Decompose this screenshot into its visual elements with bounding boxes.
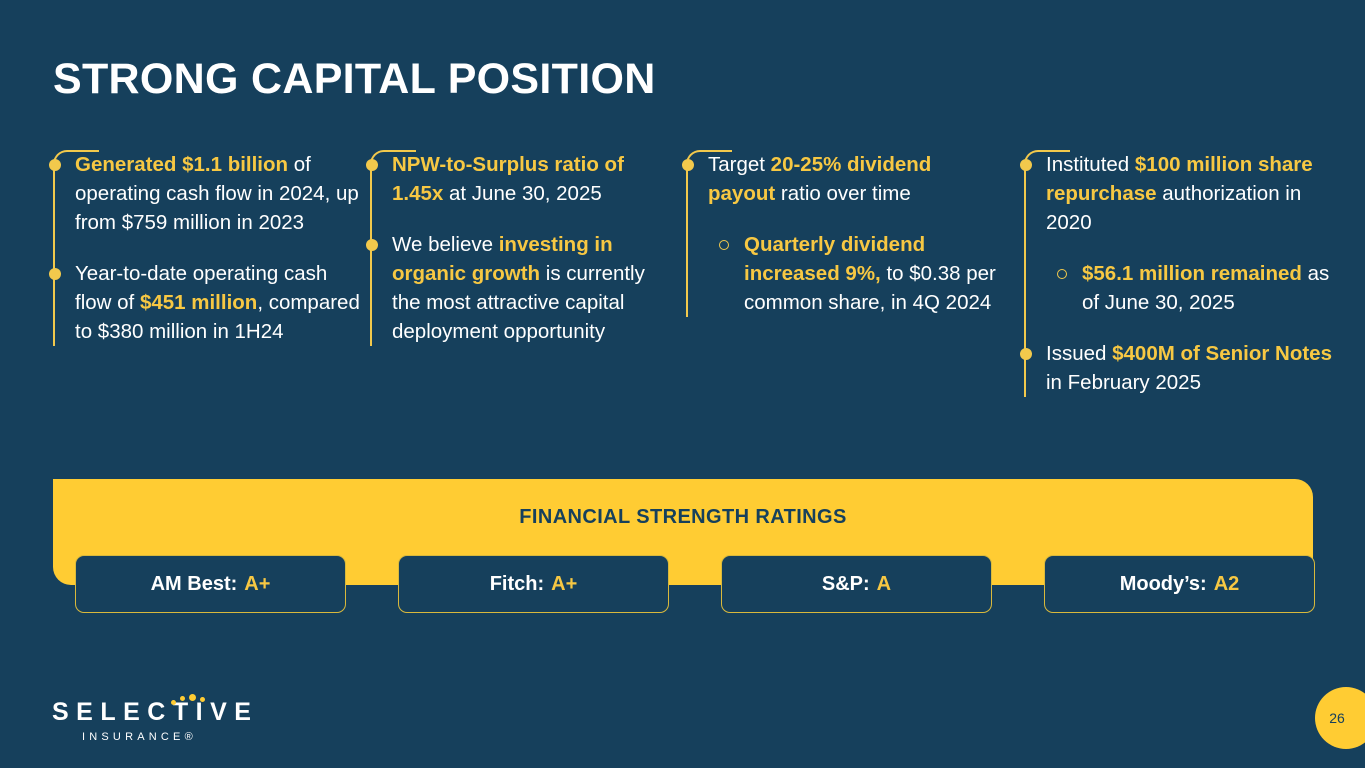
page-number-badge: 26 [1315, 687, 1365, 749]
bullet-dot-icon [49, 159, 61, 171]
rating-agency-label: Fitch: [490, 573, 544, 596]
rating-value: A+ [244, 573, 270, 596]
rating-box-4[interactable]: Moody’s:A2 [1044, 555, 1315, 613]
rating-box-3[interactable]: S&P:A [721, 555, 992, 613]
bullet-item: Instituted $100 million share repurchase… [1046, 150, 1344, 237]
logo-primary-text: SELECTIVE [52, 700, 258, 725]
rating-box-1[interactable]: AM Best:A+ [75, 555, 346, 613]
highlighted-text: Generated $1.1 billion [75, 153, 288, 176]
bullet-dot-icon [1020, 159, 1032, 171]
bullet-dot-icon [682, 159, 694, 171]
bullet-text: Generated $1.1 billion of operating cash… [75, 150, 363, 237]
bullet-item: Issued $400M of Senior Notes in February… [1046, 339, 1344, 397]
bullet-dot-icon [49, 268, 61, 280]
highlighted-text: $400M of Senior Notes [1112, 342, 1332, 365]
ratings-row: AM Best:A+Fitch:A+S&P:AMoody’s:A2 [75, 555, 1315, 613]
sub-bullet-circle-icon [719, 240, 729, 250]
bullet-text: NPW-to-Surplus ratio of 1.45x at June 30… [392, 150, 670, 208]
rating-agency-label: S&P: [822, 573, 870, 596]
ratings-banner-title: FINANCIAL STRENGTH RATINGS [53, 506, 1313, 529]
content-columns: Generated $1.1 billion of operating cash… [0, 150, 1365, 490]
rating-value: A [877, 573, 891, 596]
rating-agency-label: Moody’s: [1120, 573, 1207, 596]
rating-box-2[interactable]: Fitch:A+ [398, 555, 669, 613]
bullet-text: $56.1 million remained as of June 30, 20… [1082, 259, 1344, 317]
bullet-text: Year-to-date operating cash flow of $451… [75, 259, 363, 346]
company-logo: SELECTIVE INSURANCE® [52, 700, 258, 743]
bullet-item: Year-to-date operating cash flow of $451… [75, 259, 363, 346]
body-text: at June 30, 2025 [443, 182, 601, 205]
bullet-list: NPW-to-Surplus ratio of 1.45x at June 30… [370, 150, 670, 346]
sub-bullet-item: Quarterly dividend increased 9%, to $0.3… [744, 230, 996, 317]
sub-bullet-circle-icon [1057, 269, 1067, 279]
body-text: We believe [392, 233, 499, 256]
slide: STRONG CAPITAL POSITION Generated $1.1 b… [0, 0, 1365, 768]
content-column-2: NPW-to-Surplus ratio of 1.45x at June 30… [370, 150, 670, 346]
highlighted-text: $56.1 million remained [1082, 262, 1302, 285]
logo-dots-icon [171, 694, 211, 706]
bullet-item: Target 20-25% dividend payout ratio over… [708, 150, 996, 208]
bullet-item: NPW-to-Surplus ratio of 1.45x at June 30… [392, 150, 670, 208]
content-column-1: Generated $1.1 billion of operating cash… [53, 150, 363, 346]
bullet-list: Generated $1.1 billion of operating cash… [53, 150, 363, 346]
rating-value: A+ [551, 573, 577, 596]
content-column-3: Target 20-25% dividend payout ratio over… [686, 150, 996, 317]
body-text: Instituted [1046, 153, 1135, 176]
content-column-4: Instituted $100 million share repurchase… [1024, 150, 1344, 397]
bullet-text: We believe investing in organic growth i… [392, 230, 670, 346]
body-text: in February 2025 [1046, 371, 1201, 394]
bullet-list: Instituted $100 million share repurchase… [1024, 150, 1344, 397]
page-title: STRONG CAPITAL POSITION [53, 56, 656, 103]
bullet-item: Generated $1.1 billion of operating cash… [75, 150, 363, 237]
page-number: 26 [1329, 710, 1345, 726]
rating-agency-label: AM Best: [151, 573, 238, 596]
body-text: ratio over time [775, 182, 911, 205]
financial-strength-ratings-banner: FINANCIAL STRENGTH RATINGS AM Best:A+Fit… [53, 479, 1313, 585]
sub-bullet-item: $56.1 million remained as of June 30, 20… [1082, 259, 1344, 317]
bullet-text: Instituted $100 million share repurchase… [1046, 150, 1344, 237]
bullet-dot-icon [1020, 348, 1032, 360]
bullet-text: Issued $400M of Senior Notes in February… [1046, 339, 1344, 397]
body-text: Issued [1046, 342, 1112, 365]
bullet-dot-icon [366, 159, 378, 171]
logo-secondary-text: INSURANCE® [82, 732, 258, 743]
bullet-dot-icon [366, 239, 378, 251]
body-text: Target [708, 153, 771, 176]
bullet-text: Quarterly dividend increased 9%, to $0.3… [744, 230, 996, 317]
highlighted-text: $451 million [140, 291, 257, 314]
bullet-text: Target 20-25% dividend payout ratio over… [708, 150, 996, 208]
bullet-list: Target 20-25% dividend payout ratio over… [686, 150, 996, 317]
rating-value: A2 [1214, 573, 1240, 596]
bullet-item: We believe investing in organic growth i… [392, 230, 670, 346]
